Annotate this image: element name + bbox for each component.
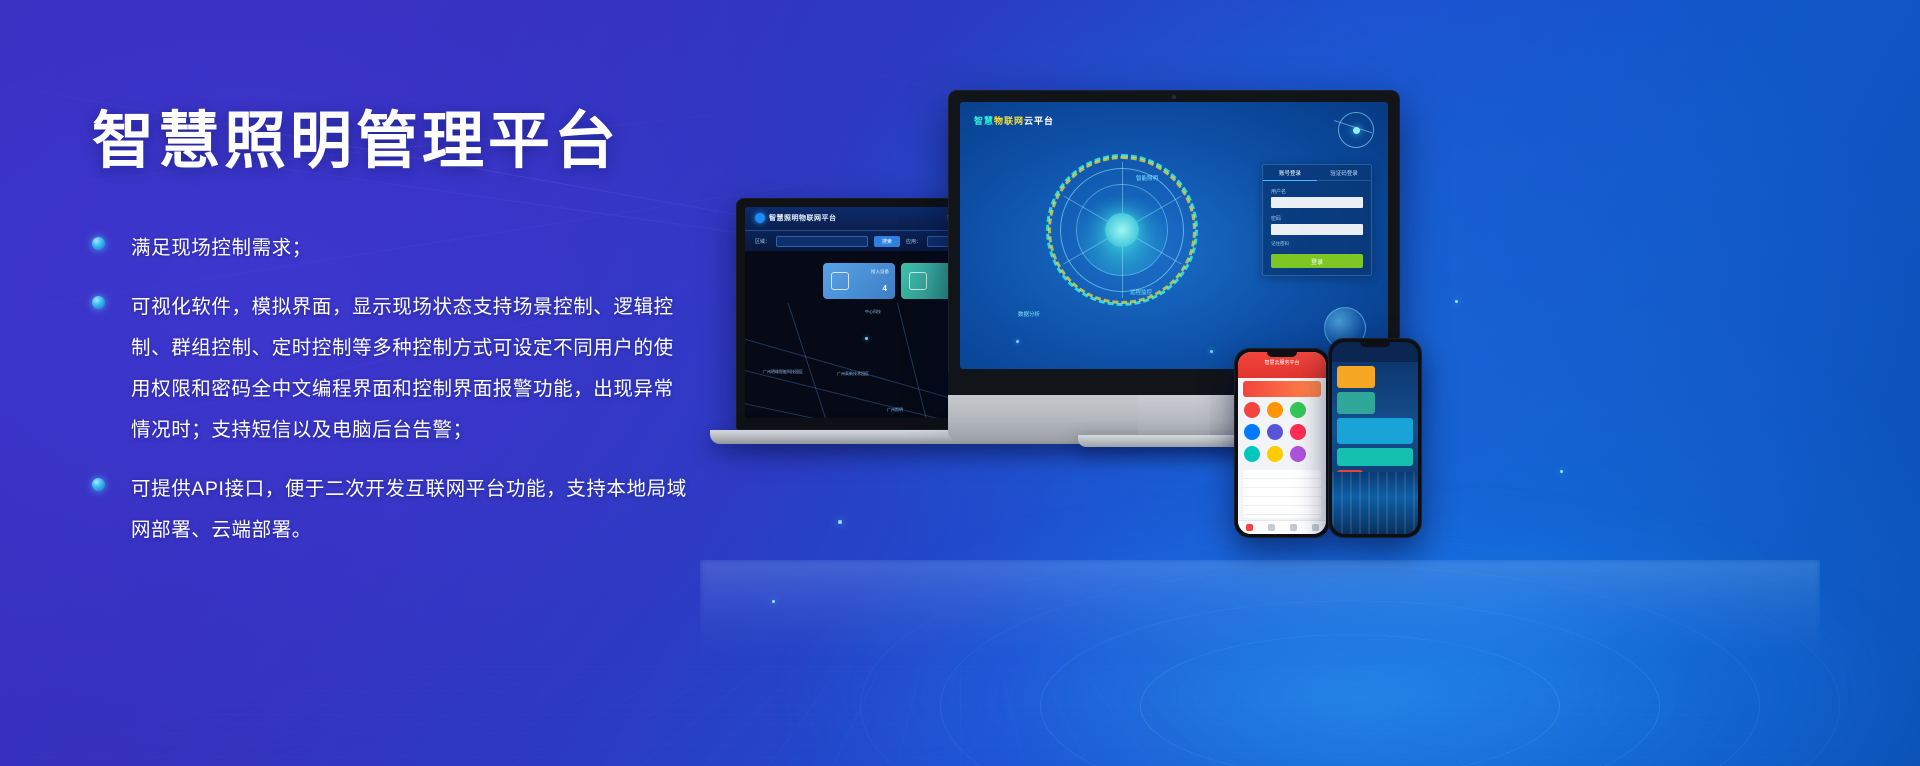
app-icon[interactable] — [1267, 424, 1283, 440]
list-item[interactable] — [1243, 506, 1321, 515]
login-panel: 账号登录 验证码登录 用户名 密码 记住密码 登录 — [1262, 164, 1372, 276]
device-mockup-cluster: 智慧照明物联网平台 首页 设备管理 统计分析 地图 列表 区 — [690, 80, 1870, 640]
banner-stage: 智慧照明管理平台 满足现场控制需求； 可视化软件，模拟界面，显示现场状态支持场景… — [0, 0, 1920, 766]
region-filter-label: 区域： — [755, 238, 770, 245]
dashboard-tile[interactable] — [1337, 366, 1375, 388]
phone-app-list[interactable] — [1243, 470, 1321, 518]
app-icon[interactable] — [1244, 446, 1260, 462]
list-item[interactable] — [1243, 488, 1321, 497]
login-button[interactable]: 登录 — [1271, 254, 1363, 268]
list-item: 满足现场控制需求； — [92, 228, 692, 269]
map-label: 中心科技 — [865, 309, 881, 315]
phone-mockup-dashboard — [1328, 338, 1422, 538]
monitor-title: 智慧物联网云平台 — [974, 114, 1054, 127]
laptop-brand-label: 智慧照明物联网平台 — [769, 213, 837, 223]
dashboard-tile[interactable] — [1337, 418, 1413, 444]
phone-dashboard-screen — [1332, 342, 1418, 534]
phone-app-screen: 智慧云服务平台 — [1238, 352, 1326, 534]
phone-mockup-app: 智慧云服务平台 — [1234, 348, 1330, 538]
login-tabs[interactable]: 账号登录 验证码登录 — [1263, 165, 1371, 181]
home-icon — [1246, 524, 1253, 531]
profile-icon — [1312, 524, 1319, 531]
imac-stand-neck — [1138, 395, 1210, 439]
app-icon[interactable] — [1290, 402, 1306, 418]
device-icon — [1268, 524, 1275, 531]
tab-messages[interactable] — [1282, 521, 1304, 534]
phone-dashboard-photo — [1332, 472, 1418, 534]
phone-app-title: 智慧云服务平台 — [1238, 359, 1326, 366]
lamp-icon — [831, 272, 849, 290]
radar-core-icon — [1105, 213, 1139, 247]
list-item[interactable] — [1243, 470, 1321, 479]
feature-text: 可视化软件，模拟界面，显示现场状态支持场景控制、逻辑控制、群组控制、定时控制等多… — [131, 287, 692, 451]
app-icon[interactable] — [1290, 424, 1306, 440]
tab-home[interactable] — [1238, 521, 1260, 534]
map-label: 广州高新技术园区 — [837, 371, 869, 377]
monitor-title-part2: 物联网 — [994, 116, 1024, 126]
bullet-dot-icon — [92, 296, 105, 309]
marketing-copy: 智慧照明管理平台 满足现场控制需求； 可视化软件，模拟界面，显示现场状态支持场景… — [92, 108, 692, 569]
search-button[interactable]: 搜索 — [874, 236, 900, 247]
region-filter-input[interactable] — [776, 236, 868, 247]
pole-icon — [909, 272, 927, 290]
webcam-icon — [1172, 95, 1176, 99]
tab-devices[interactable] — [1260, 521, 1282, 534]
stat-card-count: 4 — [883, 284, 887, 293]
password-label: 密码 — [1271, 215, 1371, 222]
page-title: 智慧照明管理平台 — [92, 108, 692, 176]
dashboard-tile[interactable] — [1337, 448, 1413, 466]
list-item[interactable] — [1243, 479, 1321, 488]
phone-notch — [1360, 342, 1390, 347]
map-label: 广州明珠智能科技园区 — [763, 369, 803, 375]
password-input[interactable] — [1271, 224, 1363, 235]
list-item: 可视化软件，模拟界面，显示现场状态支持场景控制、逻辑控制、群组控制、定时控制等多… — [92, 287, 692, 451]
phone-app-banner[interactable] — [1243, 381, 1321, 397]
radar-label: 智能照明 — [1136, 174, 1158, 182]
phone-app-icon-grid[interactable] — [1244, 402, 1320, 462]
username-label: 用户名 — [1271, 188, 1371, 195]
imac-screen: 智慧物联网云平台 智能照明 远程监控 数据分析 — [960, 102, 1388, 369]
list-item: 可提供API接口，便于二次开发互联网平台功能，支持本地局域网部署、云端部署。 — [92, 469, 692, 551]
perspective-grid-decoration — [0, 661, 1920, 766]
feature-list: 满足现场控制需求； 可视化软件，模拟界面，显示现场状态支持场景控制、逻辑控制、群… — [92, 228, 692, 551]
radar-label: 数据分析 — [1018, 310, 1040, 318]
map-label: 广州照明 — [887, 407, 903, 413]
monitor-title-part1: 智慧 — [974, 116, 994, 126]
app-icon[interactable] — [1267, 446, 1283, 462]
remember-password-checkbox[interactable]: 记住密码 — [1271, 241, 1371, 247]
feature-text: 满足现场控制需求； — [131, 228, 312, 269]
stat-card[interactable]: 接入设备 4 — [823, 263, 895, 299]
list-item[interactable] — [1243, 497, 1321, 506]
data-point-icon — [1210, 350, 1213, 353]
message-icon — [1290, 524, 1297, 531]
app-icon[interactable] — [1244, 424, 1260, 440]
monitor-title-part3: 云平台 — [1024, 116, 1054, 126]
tab-code-login[interactable]: 验证码登录 — [1317, 165, 1371, 181]
app-icon[interactable] — [1290, 446, 1306, 462]
radar-visualization — [1046, 154, 1198, 306]
tab-account-login[interactable]: 账号登录 — [1263, 165, 1317, 181]
phone-app-tabbar[interactable] — [1238, 520, 1326, 534]
target-reticle-icon — [1338, 112, 1374, 148]
app-icon[interactable] — [1267, 402, 1283, 418]
feature-text: 可提供API接口，便于二次开发互联网平台功能，支持本地局域网部署、云端部署。 — [131, 469, 692, 551]
radar-label: 远程监控 — [1130, 288, 1152, 296]
tab-profile[interactable] — [1304, 521, 1326, 534]
laptop-brand: 智慧照明物联网平台 — [755, 213, 837, 223]
phone-notch — [1267, 352, 1297, 357]
stat-card-label: 接入设备 — [871, 269, 889, 275]
data-point-icon — [1016, 340, 1019, 343]
bullet-dot-icon — [92, 237, 105, 250]
dashboard-tile[interactable] — [1337, 392, 1375, 414]
username-input[interactable] — [1271, 197, 1363, 208]
app-icon[interactable] — [1244, 402, 1260, 418]
bullet-dot-icon — [92, 478, 105, 491]
status-filter-label: 应用： — [906, 238, 921, 245]
platform-logo-icon — [755, 213, 765, 223]
